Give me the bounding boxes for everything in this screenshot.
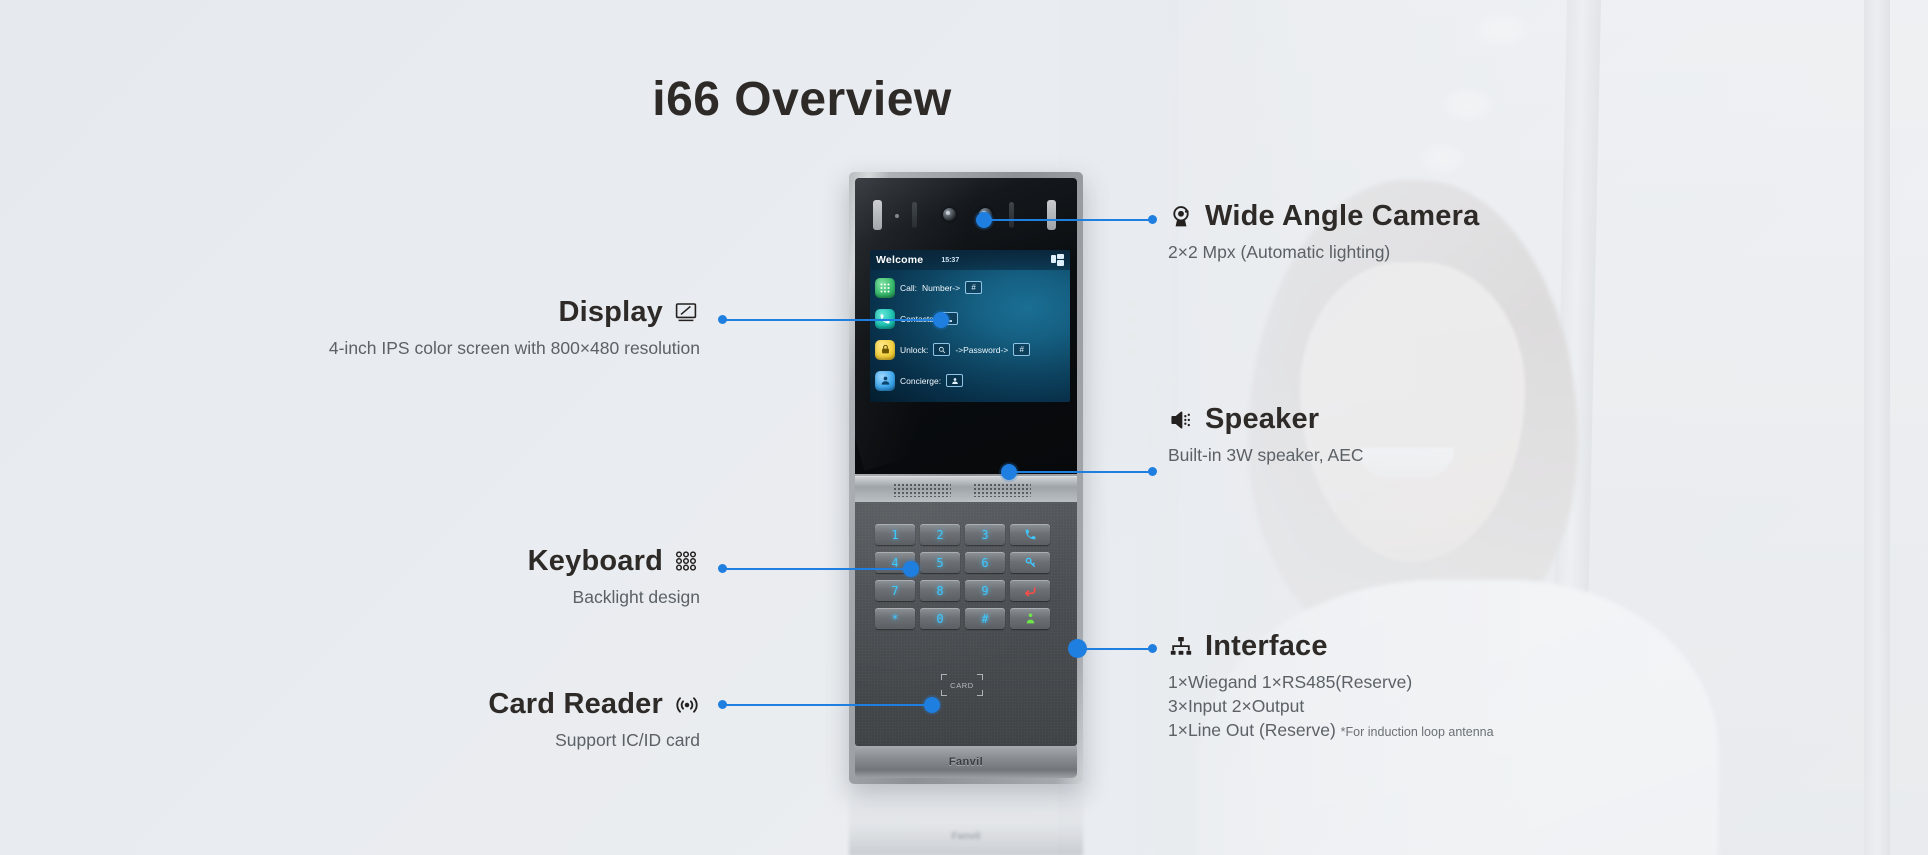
callout-wide-angle-camera: Wide Angle Camera 2×2 Mpx (Automatic lig… [1168, 200, 1479, 263]
callout-title: Interface [1205, 630, 1328, 663]
card-reader-zone[interactable]: CARD [941, 674, 983, 696]
key-7[interactable]: 7 [875, 580, 915, 601]
ir-led [873, 200, 882, 230]
camera-icon [1168, 204, 1194, 230]
key-hangup[interactable] [1010, 580, 1050, 601]
person-icon [875, 371, 895, 391]
callout-interface: Interface 1×Wiegand 1×RS485(Reserve) 3×I… [1168, 630, 1494, 741]
lcd-status-bar: Welcome 15:37 [870, 250, 1070, 270]
lcd-row-label: Concierge: [900, 376, 941, 386]
callout-title: Display [558, 296, 663, 329]
speaker-grille-left [893, 483, 951, 497]
camera-connector-dot [1148, 215, 1157, 224]
rfid-wave-icon [674, 692, 700, 718]
page-title: i66 Overview [0, 72, 1928, 127]
key-concierge[interactable] [1010, 608, 1050, 629]
card-zone-label: CARD [950, 681, 974, 690]
lcd-row-sep: ->Password-> [955, 345, 1008, 355]
speaker-connector-line [1009, 471, 1152, 473]
lcd-welcome-text: Welcome [876, 254, 923, 266]
interface-line-3-note: *For induction loop antenna [1341, 725, 1494, 739]
interface-line-2: 3×Input 2×Output [1168, 696, 1494, 717]
key-3[interactable]: 3 [965, 524, 1005, 545]
lcd-row-key-2: # [1013, 343, 1030, 356]
keyboard-connector-dot [718, 564, 727, 573]
ir-slot [912, 202, 917, 228]
callout-subtitle: 2×2 Mpx (Automatic lighting) [1168, 242, 1479, 263]
lcd-row-value: Number-> [922, 283, 960, 293]
device-image: Welcome 15:37 [849, 172, 1083, 784]
lcd-menu-list: Call: Number-> # Contacts: [870, 270, 1070, 398]
light-sensor [943, 208, 956, 221]
brand-name: Fanvil [949, 756, 983, 768]
callout-title: Speaker [1205, 403, 1319, 436]
keyboard-connector-line [725, 568, 905, 570]
key-star[interactable]: * [875, 608, 915, 629]
keyboard-anchor-dot [903, 561, 919, 577]
device-keypad[interactable]: 1 2 3 4 5 6 7 8 9 [875, 524, 1050, 629]
key-2[interactable]: 2 [920, 524, 960, 545]
interface-connector-line [1078, 648, 1152, 650]
lcd-row-label: Call: [900, 283, 917, 293]
network-status-icon [1051, 254, 1064, 267]
callout-subtitle: Built-in 3W speaker, AEC [1168, 445, 1364, 466]
lcd-menu-row-concierge[interactable]: Concierge: [875, 365, 1065, 396]
display-connector-dot [718, 315, 727, 324]
lcd-menu-row-call[interactable]: Call: Number-> # [875, 272, 1065, 303]
key-call[interactable] [1010, 524, 1050, 545]
speaker-grille-right [973, 483, 1031, 497]
device-lower-panel: 1 2 3 4 5 6 7 8 9 [855, 502, 1077, 746]
interface-line-1: 1×Wiegand 1×RS485(Reserve) [1168, 672, 1494, 693]
speaker-band [855, 476, 1077, 502]
lock-icon [875, 340, 895, 360]
interface-line-3-text: 1×Line Out (Reserve) [1168, 720, 1336, 740]
sensor-dot [895, 214, 899, 218]
callout-display: Display 4-inch IPS color screen with 800… [120, 296, 700, 359]
lcd-row-label: Unlock: [900, 345, 928, 355]
key-1[interactable]: 1 [875, 524, 915, 545]
callout-subtitle: Backlight design [120, 587, 700, 608]
lcd-menu-row-unlock[interactable]: Unlock: ->Password-> # [875, 334, 1065, 365]
ir-slot [1009, 202, 1014, 228]
lcd-clock: 15:37 [941, 257, 959, 264]
speaker-icon [1168, 407, 1194, 433]
speaker-connector-dot [1148, 467, 1157, 476]
key-9[interactable]: 9 [965, 580, 1005, 601]
reflection-brand: Fanvil [849, 831, 1083, 842]
key-6[interactable]: 6 [965, 552, 1005, 573]
product-overview-page: i66 Overview Welcome 15:37 [0, 0, 1928, 855]
display-icon [674, 300, 700, 326]
interface-icon [1168, 634, 1194, 660]
ir-led [1047, 200, 1056, 230]
interface-connector-dot [1148, 644, 1157, 653]
callout-subtitle: Support IC/ID card [120, 730, 700, 751]
key-hash[interactable]: # [965, 608, 1005, 629]
key-5[interactable]: 5 [920, 552, 960, 573]
callout-card-reader: Card Reader Support IC/ID card [120, 688, 700, 751]
callout-title: Keyboard [528, 545, 663, 578]
display-anchor-dot [933, 312, 949, 328]
callout-keyboard: Keyboard Backlight design [120, 545, 700, 608]
key-unlock[interactable] [1010, 552, 1050, 573]
camera-connector-line [984, 219, 1152, 221]
device-reflection: Fanvil [849, 786, 1083, 855]
device-lcd-screen[interactable]: Welcome 15:37 [870, 250, 1070, 402]
lcd-row-key [946, 374, 963, 387]
callout-title: Card Reader [488, 688, 663, 721]
card-reader-connector-dot [718, 700, 727, 709]
device-front-glass: Welcome 15:37 [855, 178, 1077, 474]
display-connector-line [725, 319, 935, 321]
keypad-dots-icon [674, 549, 700, 575]
lcd-row-key: # [965, 281, 982, 294]
card-reader-connector-line [725, 704, 927, 706]
page-title-text: i66 Overview [652, 72, 952, 127]
lcd-row-key [933, 343, 950, 356]
key-0[interactable]: 0 [920, 608, 960, 629]
callout-speaker: Speaker Built-in 3W speaker, AEC [1168, 403, 1364, 466]
callout-subtitle: 4-inch IPS color screen with 800×480 res… [120, 338, 700, 359]
dialpad-icon [875, 278, 895, 298]
key-8[interactable]: 8 [920, 580, 960, 601]
device-brand-band: Fanvil [855, 746, 1077, 778]
interface-line-3: 1×Line Out (Reserve) *For induction loop… [1168, 720, 1494, 741]
callout-title: Wide Angle Camera [1205, 200, 1479, 233]
